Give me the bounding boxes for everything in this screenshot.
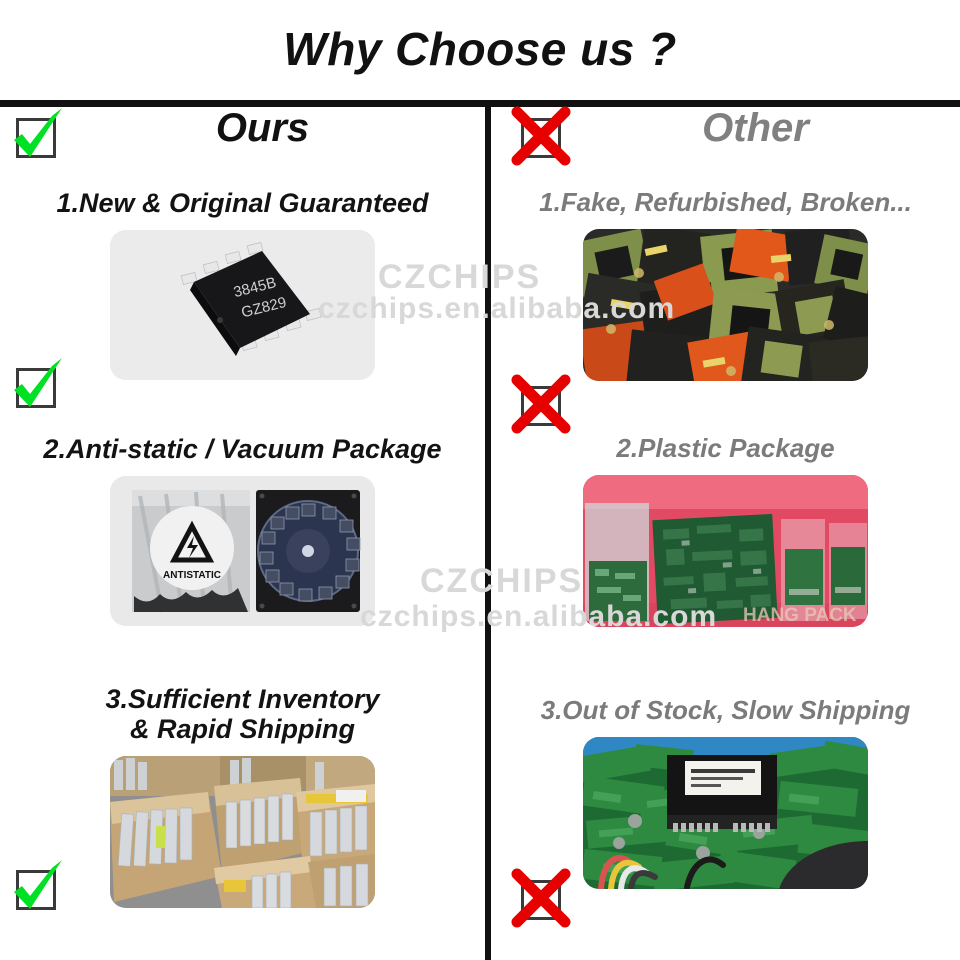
feature-ours-1: 1.New & Original Guaranteed [0, 188, 485, 380]
cross-icon [513, 378, 569, 434]
page-title: Why Choose us ? [0, 22, 960, 76]
feature-ours-1-label: 1.New & Original Guaranteed [0, 188, 485, 218]
comparison-infographic: Why Choose us ? Ours 1.New & Original Gu… [0, 0, 960, 960]
feature-other-3-label: 3.Out of Stock, Slow Shipping [491, 696, 960, 725]
feature-ours-3: 3.Sufficient Inventory & Rapid Shipping [0, 684, 485, 908]
feature-ours-3-label-line1: 3.Sufficient Inventory [0, 684, 485, 714]
check-icon [8, 360, 64, 416]
feature-other-2: 2.Plastic Package [491, 434, 960, 627]
column-ours-header: Ours [0, 104, 485, 176]
feature-ours-2-image: ANTISTATIC [110, 476, 375, 626]
feature-ours-2-label: 2.Anti-static / Vacuum Package [0, 434, 485, 464]
feature-other-1-image [583, 229, 868, 381]
feature-ours-2: 2.Anti-static / Vacuum Package [0, 434, 485, 626]
feature-ours-3-label-line2: & Rapid Shipping [0, 714, 485, 744]
feature-other-3-image [583, 737, 868, 889]
feature-other-1: 1.Fake, Refurbished, Broken... [491, 188, 960, 381]
column-other-title: Other [491, 106, 960, 151]
column-other: Other 1.Fake, Refurbished, Broken... [491, 104, 960, 960]
feature-other-3: 3.Out of Stock, Slow Shipping [491, 696, 960, 889]
feature-other-2-image: HANG PACK [583, 475, 868, 627]
column-other-header: Other [491, 104, 960, 176]
feature-ours-1-image: 3845B GZ829 [110, 230, 375, 380]
svg-text:HANG PACK: HANG PACK [743, 605, 857, 626]
feature-ours-3-image [110, 756, 375, 908]
column-ours-title: Ours [0, 106, 485, 151]
column-ours: Ours 1.New & Original Guaranteed [0, 104, 485, 960]
svg-text:ANTISTATIC: ANTISTATIC [163, 570, 221, 581]
feature-other-1-label: 1.Fake, Refurbished, Broken... [491, 188, 960, 217]
feature-other-2-label: 2.Plastic Package [491, 434, 960, 463]
